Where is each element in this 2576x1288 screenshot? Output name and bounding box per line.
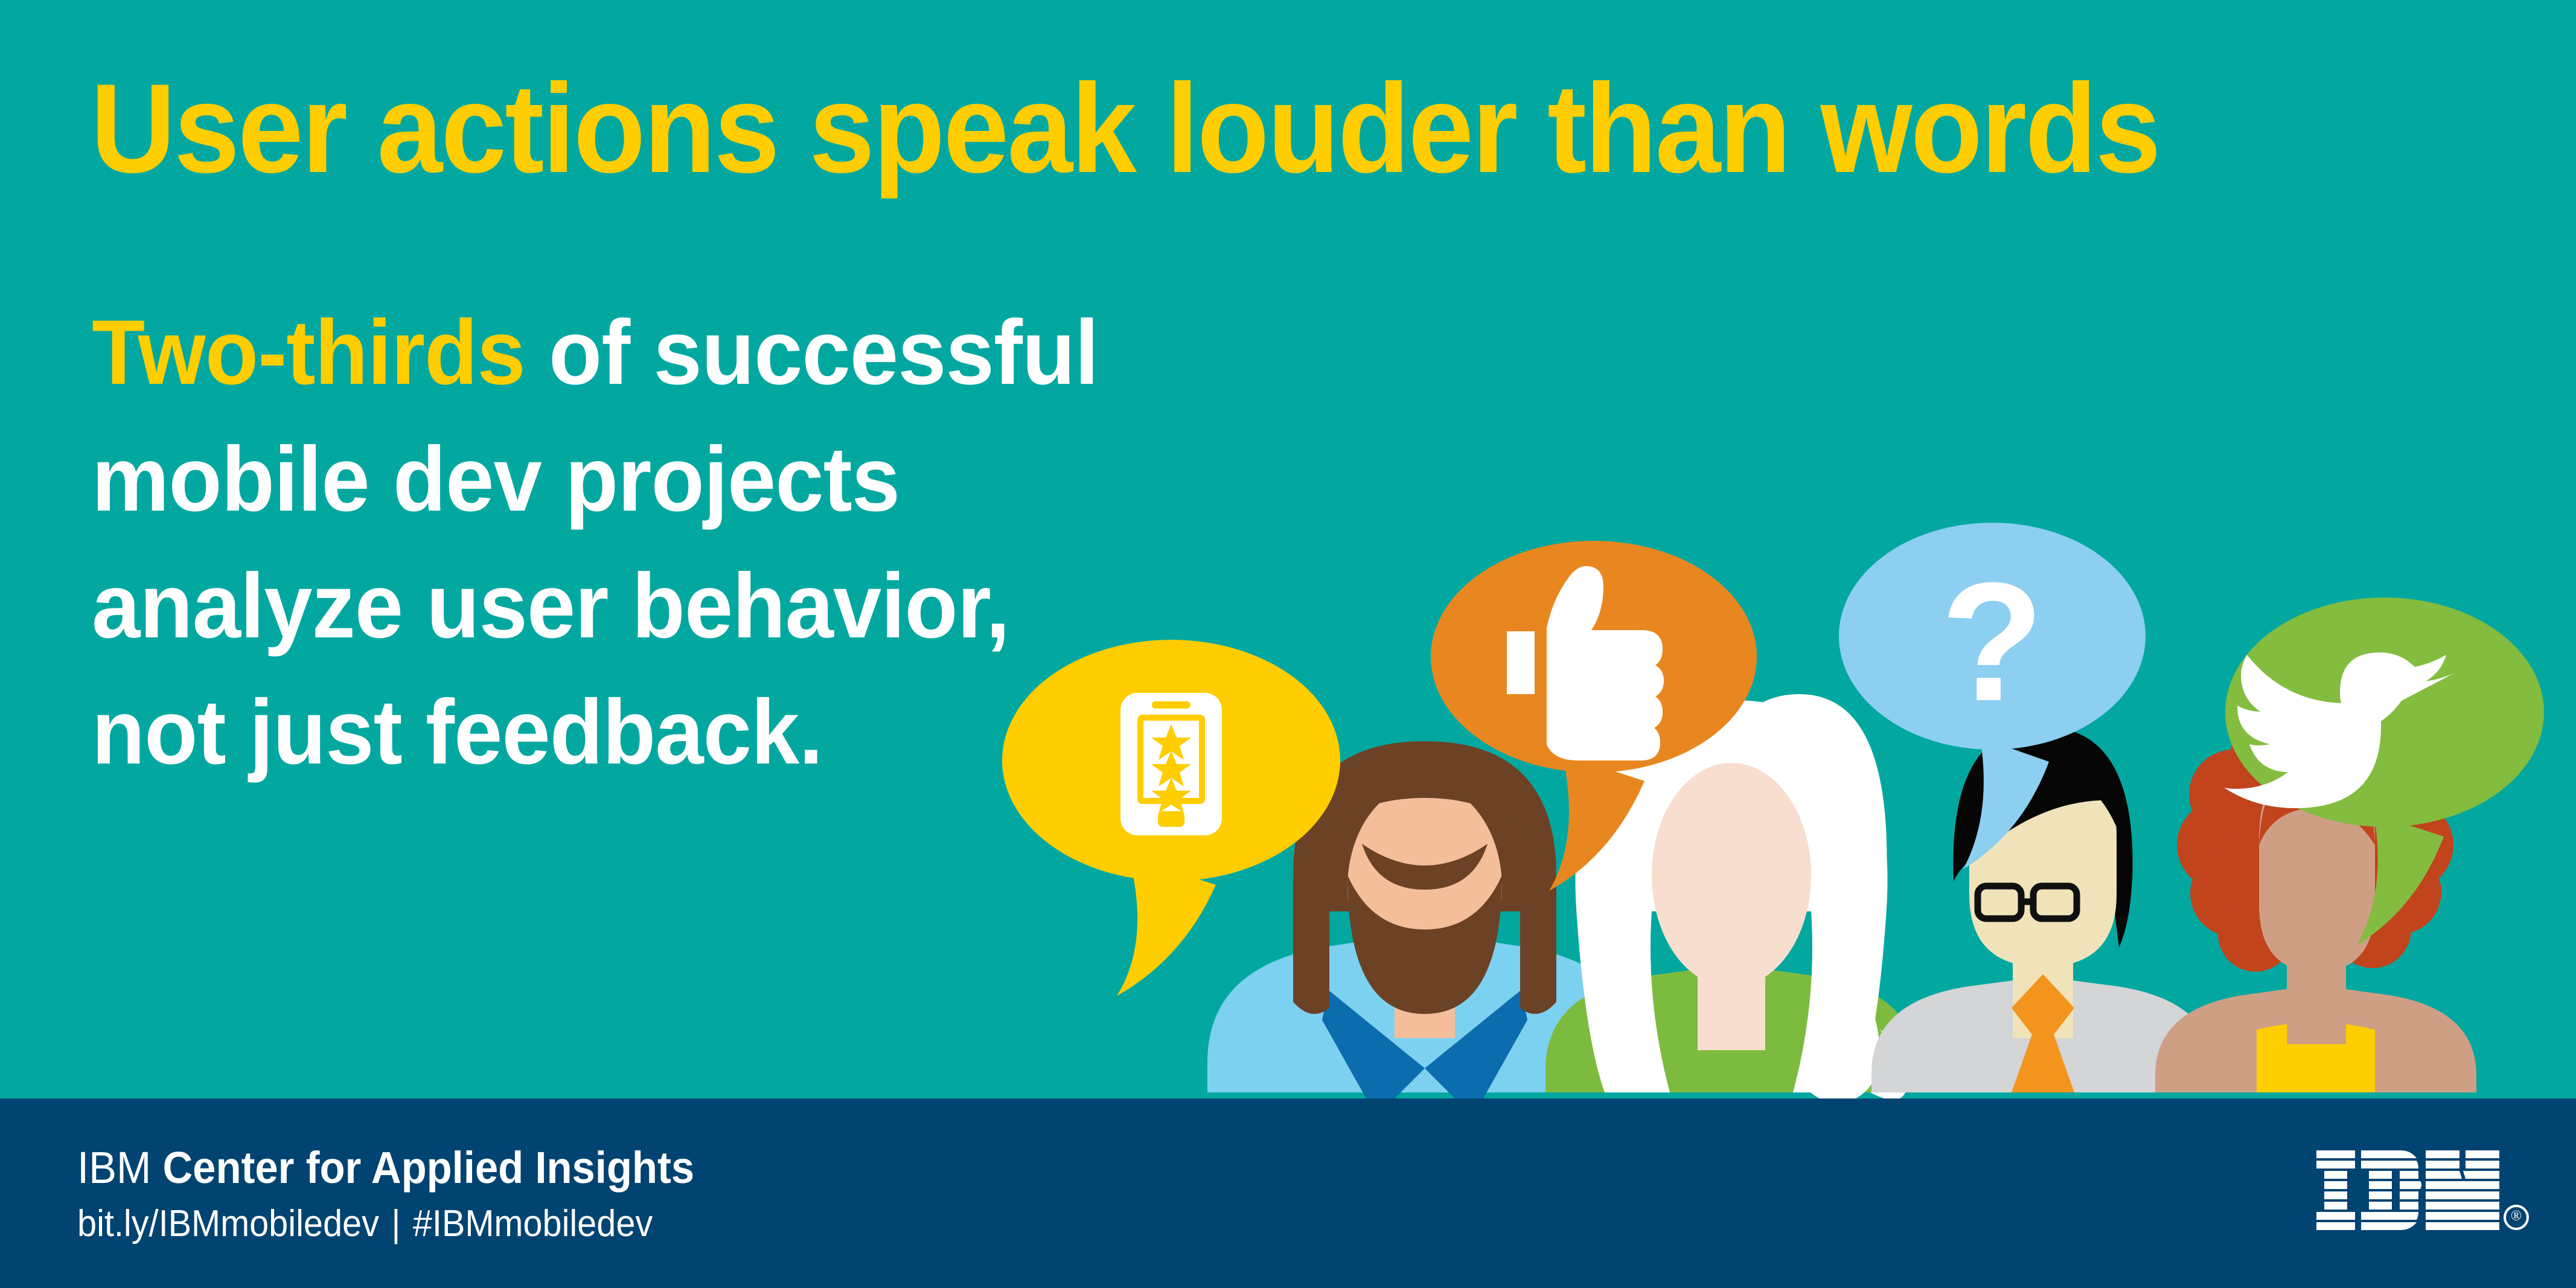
footer-link-url[interactable]: bit.ly/IBMmobiledev [77,1203,379,1245]
infographic-poster: ? User actions speak louder than words T… [0,0,2576,1288]
footer-brand-prefix: IBM [77,1143,162,1193]
footer-bar: IBM Center for Applied Insights bit.ly/I… [0,1098,2576,1288]
page-title: User actions speak louder than words [91,65,2159,192]
subhead-highlight: Two-thirds [92,301,525,404]
subhead-line1-rest: of successful [525,301,1099,404]
footer-brand: IBM Center for Applied Insights [77,1142,694,1193]
person-man-glasses [1871,727,2214,1092]
question-mark-icon: ? [1940,548,2044,736]
footer-hashtag[interactable]: #IBMmobiledev [413,1203,653,1245]
subhead-line2: mobile dev projects [92,428,900,531]
ibm-logo [2316,1150,2510,1232]
subhead-line3: analyze user behavior, [92,555,1009,657]
registered-trademark-icon: ® [2504,1205,2529,1230]
footer-separator: | [379,1203,413,1245]
subhead-block: Two-thirds of successful mobile dev proj… [92,290,1239,796]
footer-brand-name: Center for Applied Insights [162,1143,694,1193]
subhead-line4: not just feedback. [92,681,823,783]
footer-links: bit.ly/IBMmobiledev|#IBMmobiledev [77,1202,653,1245]
